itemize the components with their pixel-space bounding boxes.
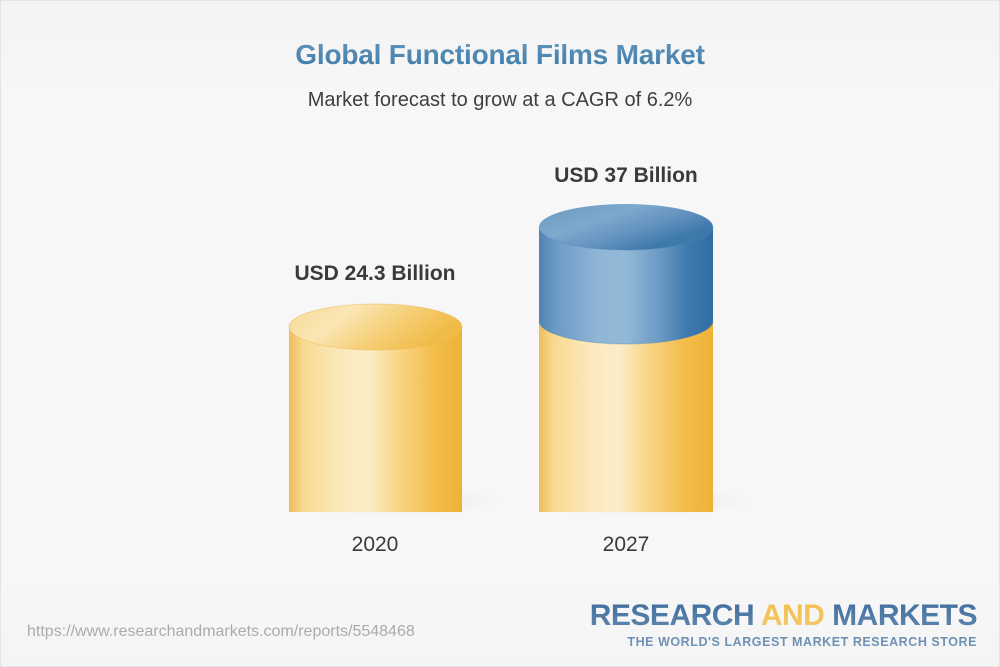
cylinder-bar-chart [1, 1, 1000, 667]
bar-2027 [535, 204, 751, 517]
logo-word-markets: MARKETS [824, 599, 977, 632]
logo-wordmark: RESEARCH AND MARKETS [590, 601, 977, 631]
logo-word-research: RESEARCH [590, 599, 761, 632]
logo-tagline: THE WORLD'S LARGEST MARKET RESEARCH STOR… [590, 636, 977, 649]
infographic-card: Global Functional Films Market Market fo… [0, 0, 1000, 667]
bar-2020 [285, 304, 501, 517]
research-and-markets-logo[interactable]: RESEARCH AND MARKETS THE WORLD'S LARGEST… [590, 601, 977, 649]
source-url[interactable]: https://www.researchandmarkets.com/repor… [27, 623, 415, 641]
logo-word-and: AND [761, 599, 825, 632]
value-label-2027: USD 37 Billion [476, 164, 776, 188]
category-label-2027: 2027 [476, 533, 776, 557]
value-label-2020: USD 24.3 Billion [225, 262, 525, 286]
